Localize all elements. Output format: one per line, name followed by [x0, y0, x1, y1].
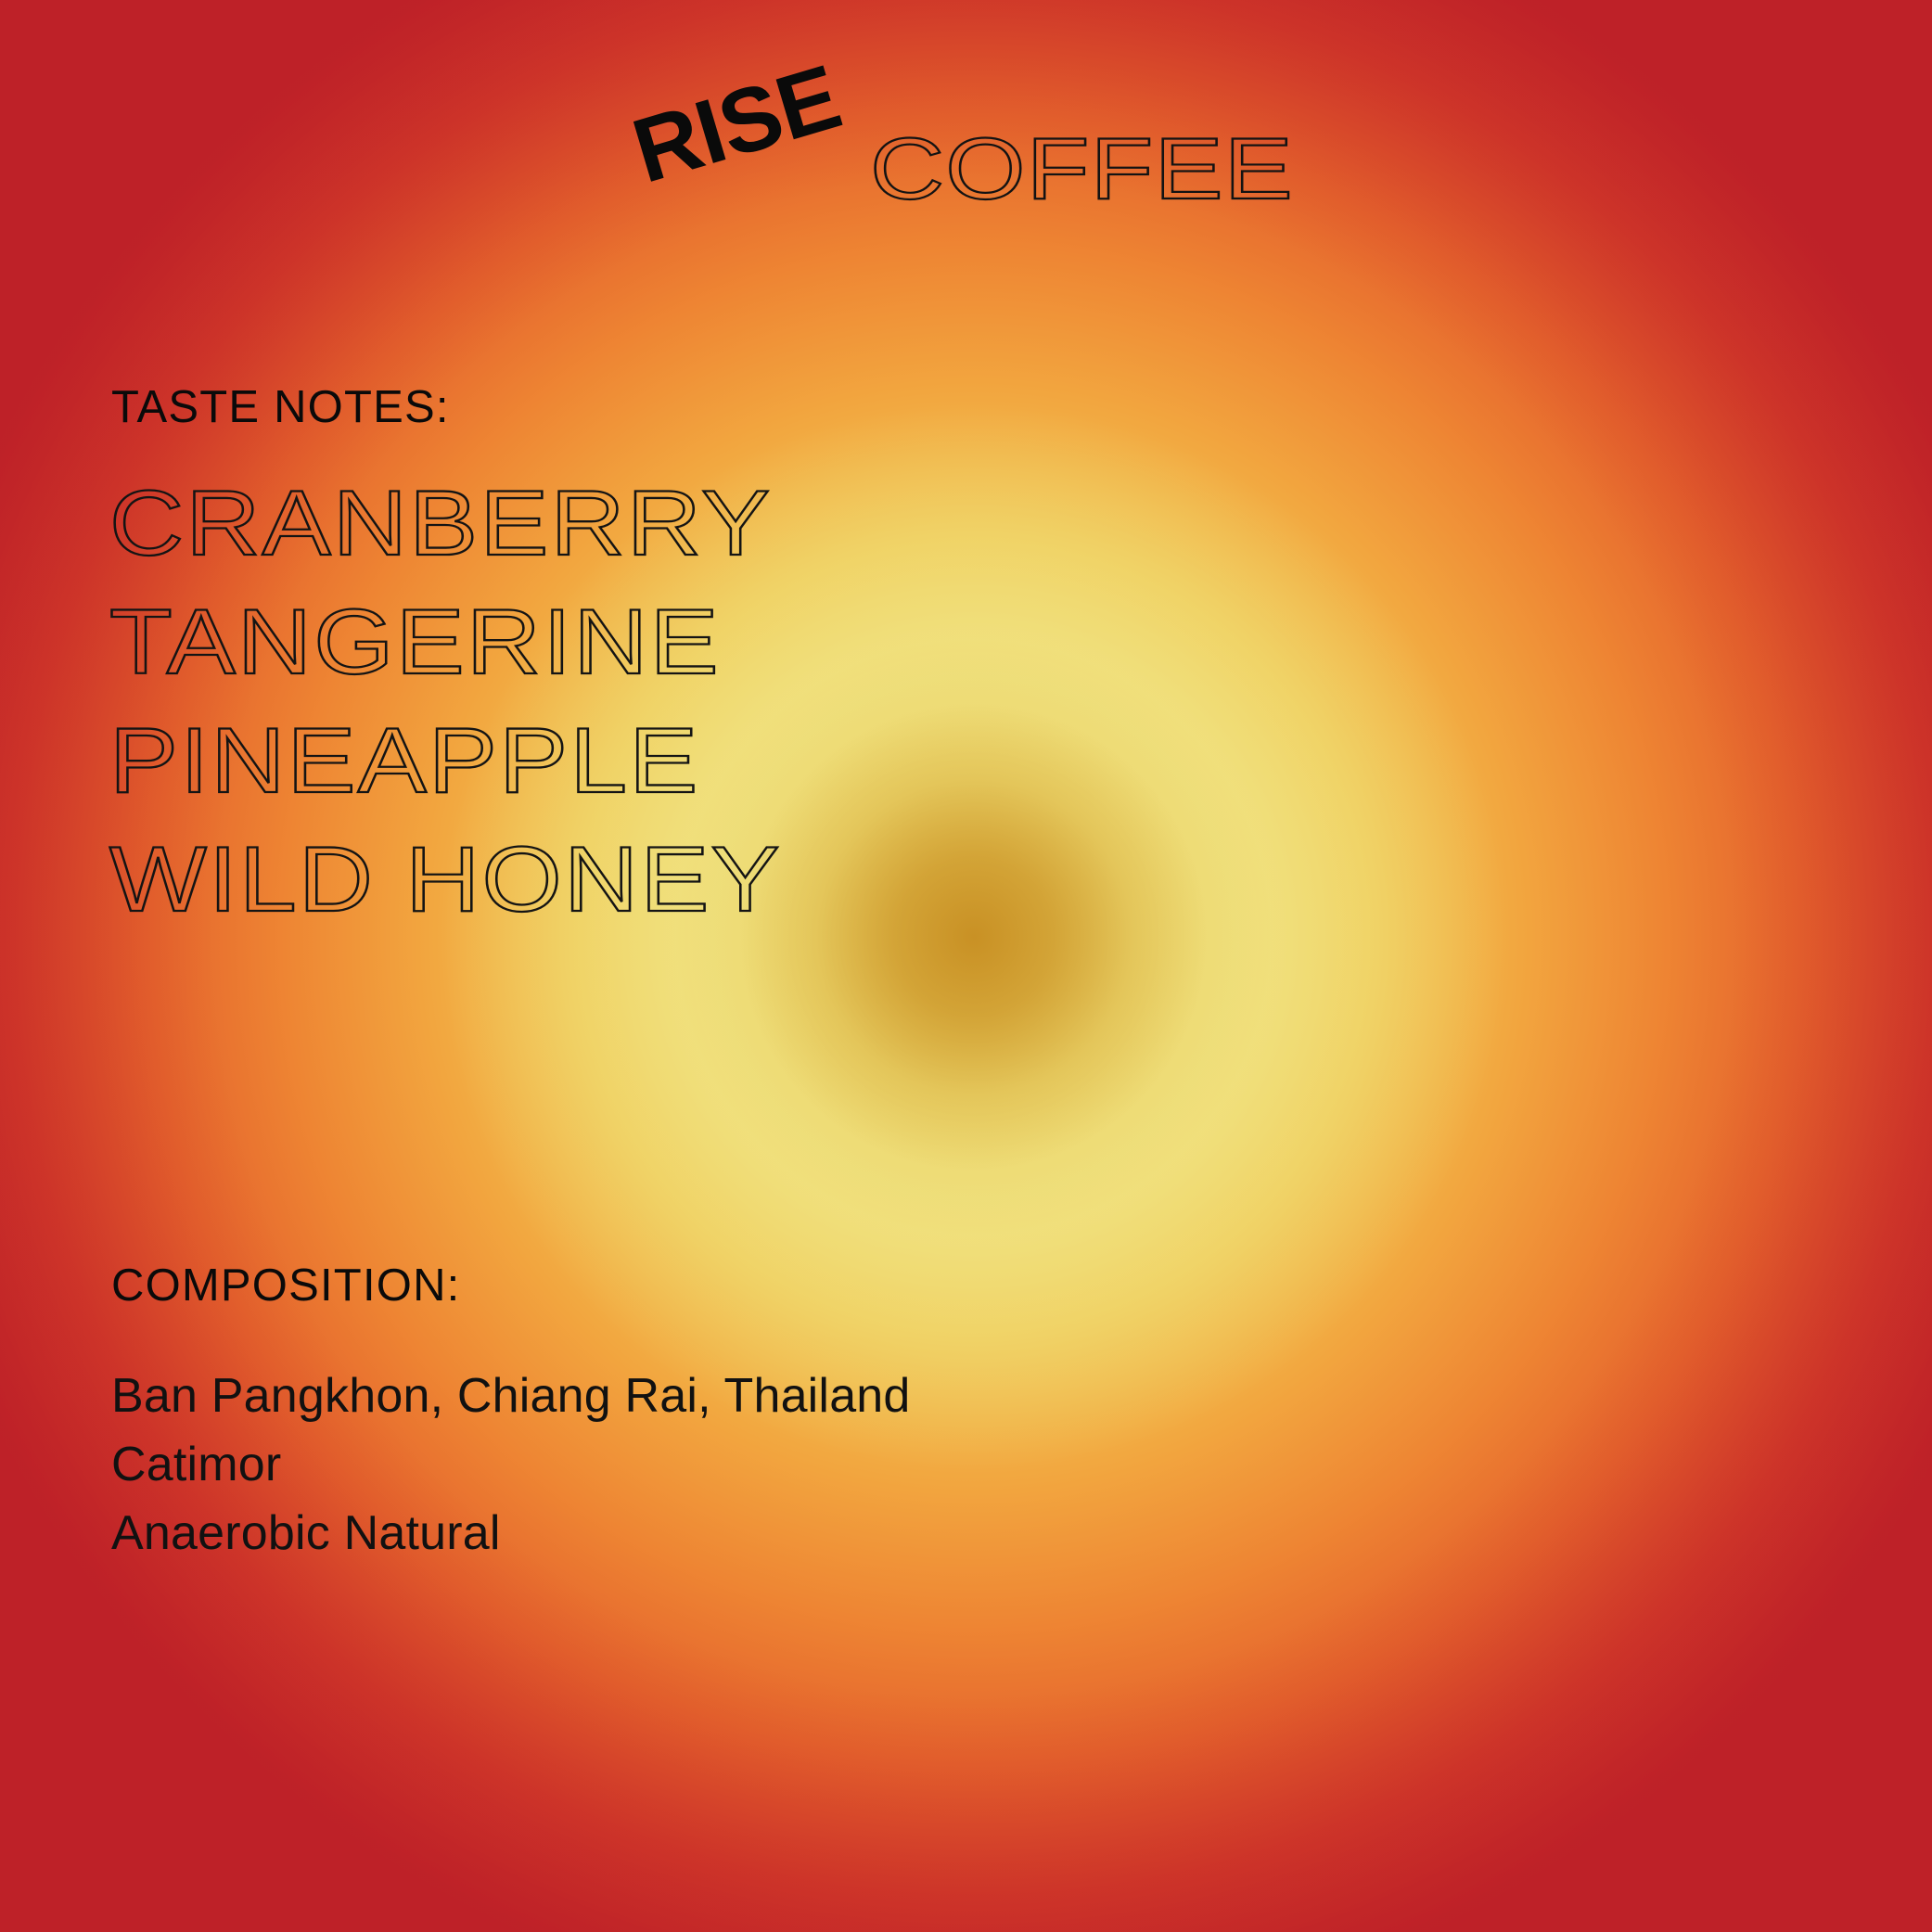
brand-name-rise: RISE — [623, 50, 849, 197]
taste-notes-heading: TASTE NOTES: — [111, 385, 450, 430]
taste-notes-list: CRANBERRY TANGERINE PINEAPPLE WILD HONEY — [109, 464, 710, 939]
coffee-bag-label: RISE COFFEE TASTE NOTES: CRANBERRY TANGE… — [0, 0, 1932, 1932]
composition-process: Anaerobic Natural — [111, 1499, 911, 1567]
brand-name-coffee: COFFEE — [870, 125, 1294, 212]
taste-note-item: CRANBERRY — [109, 464, 782, 582]
label-content: RISE COFFEE TASTE NOTES: CRANBERRY TANGE… — [0, 0, 1932, 1932]
taste-note-item: PINEAPPLE — [109, 701, 782, 820]
taste-note-item: WILD HONEY — [109, 820, 782, 939]
taste-note-item: TANGERINE — [109, 582, 782, 701]
composition-origin: Ban Pangkhon, Chiang Rai, Thailand — [111, 1362, 911, 1430]
composition-variety: Catimor — [111, 1430, 911, 1499]
composition-heading: COMPOSITION: — [111, 1263, 460, 1309]
brand-logo: RISE COFFEE — [0, 100, 1932, 239]
composition-list: Ban Pangkhon, Chiang Rai, Thailand Catim… — [111, 1362, 911, 1567]
